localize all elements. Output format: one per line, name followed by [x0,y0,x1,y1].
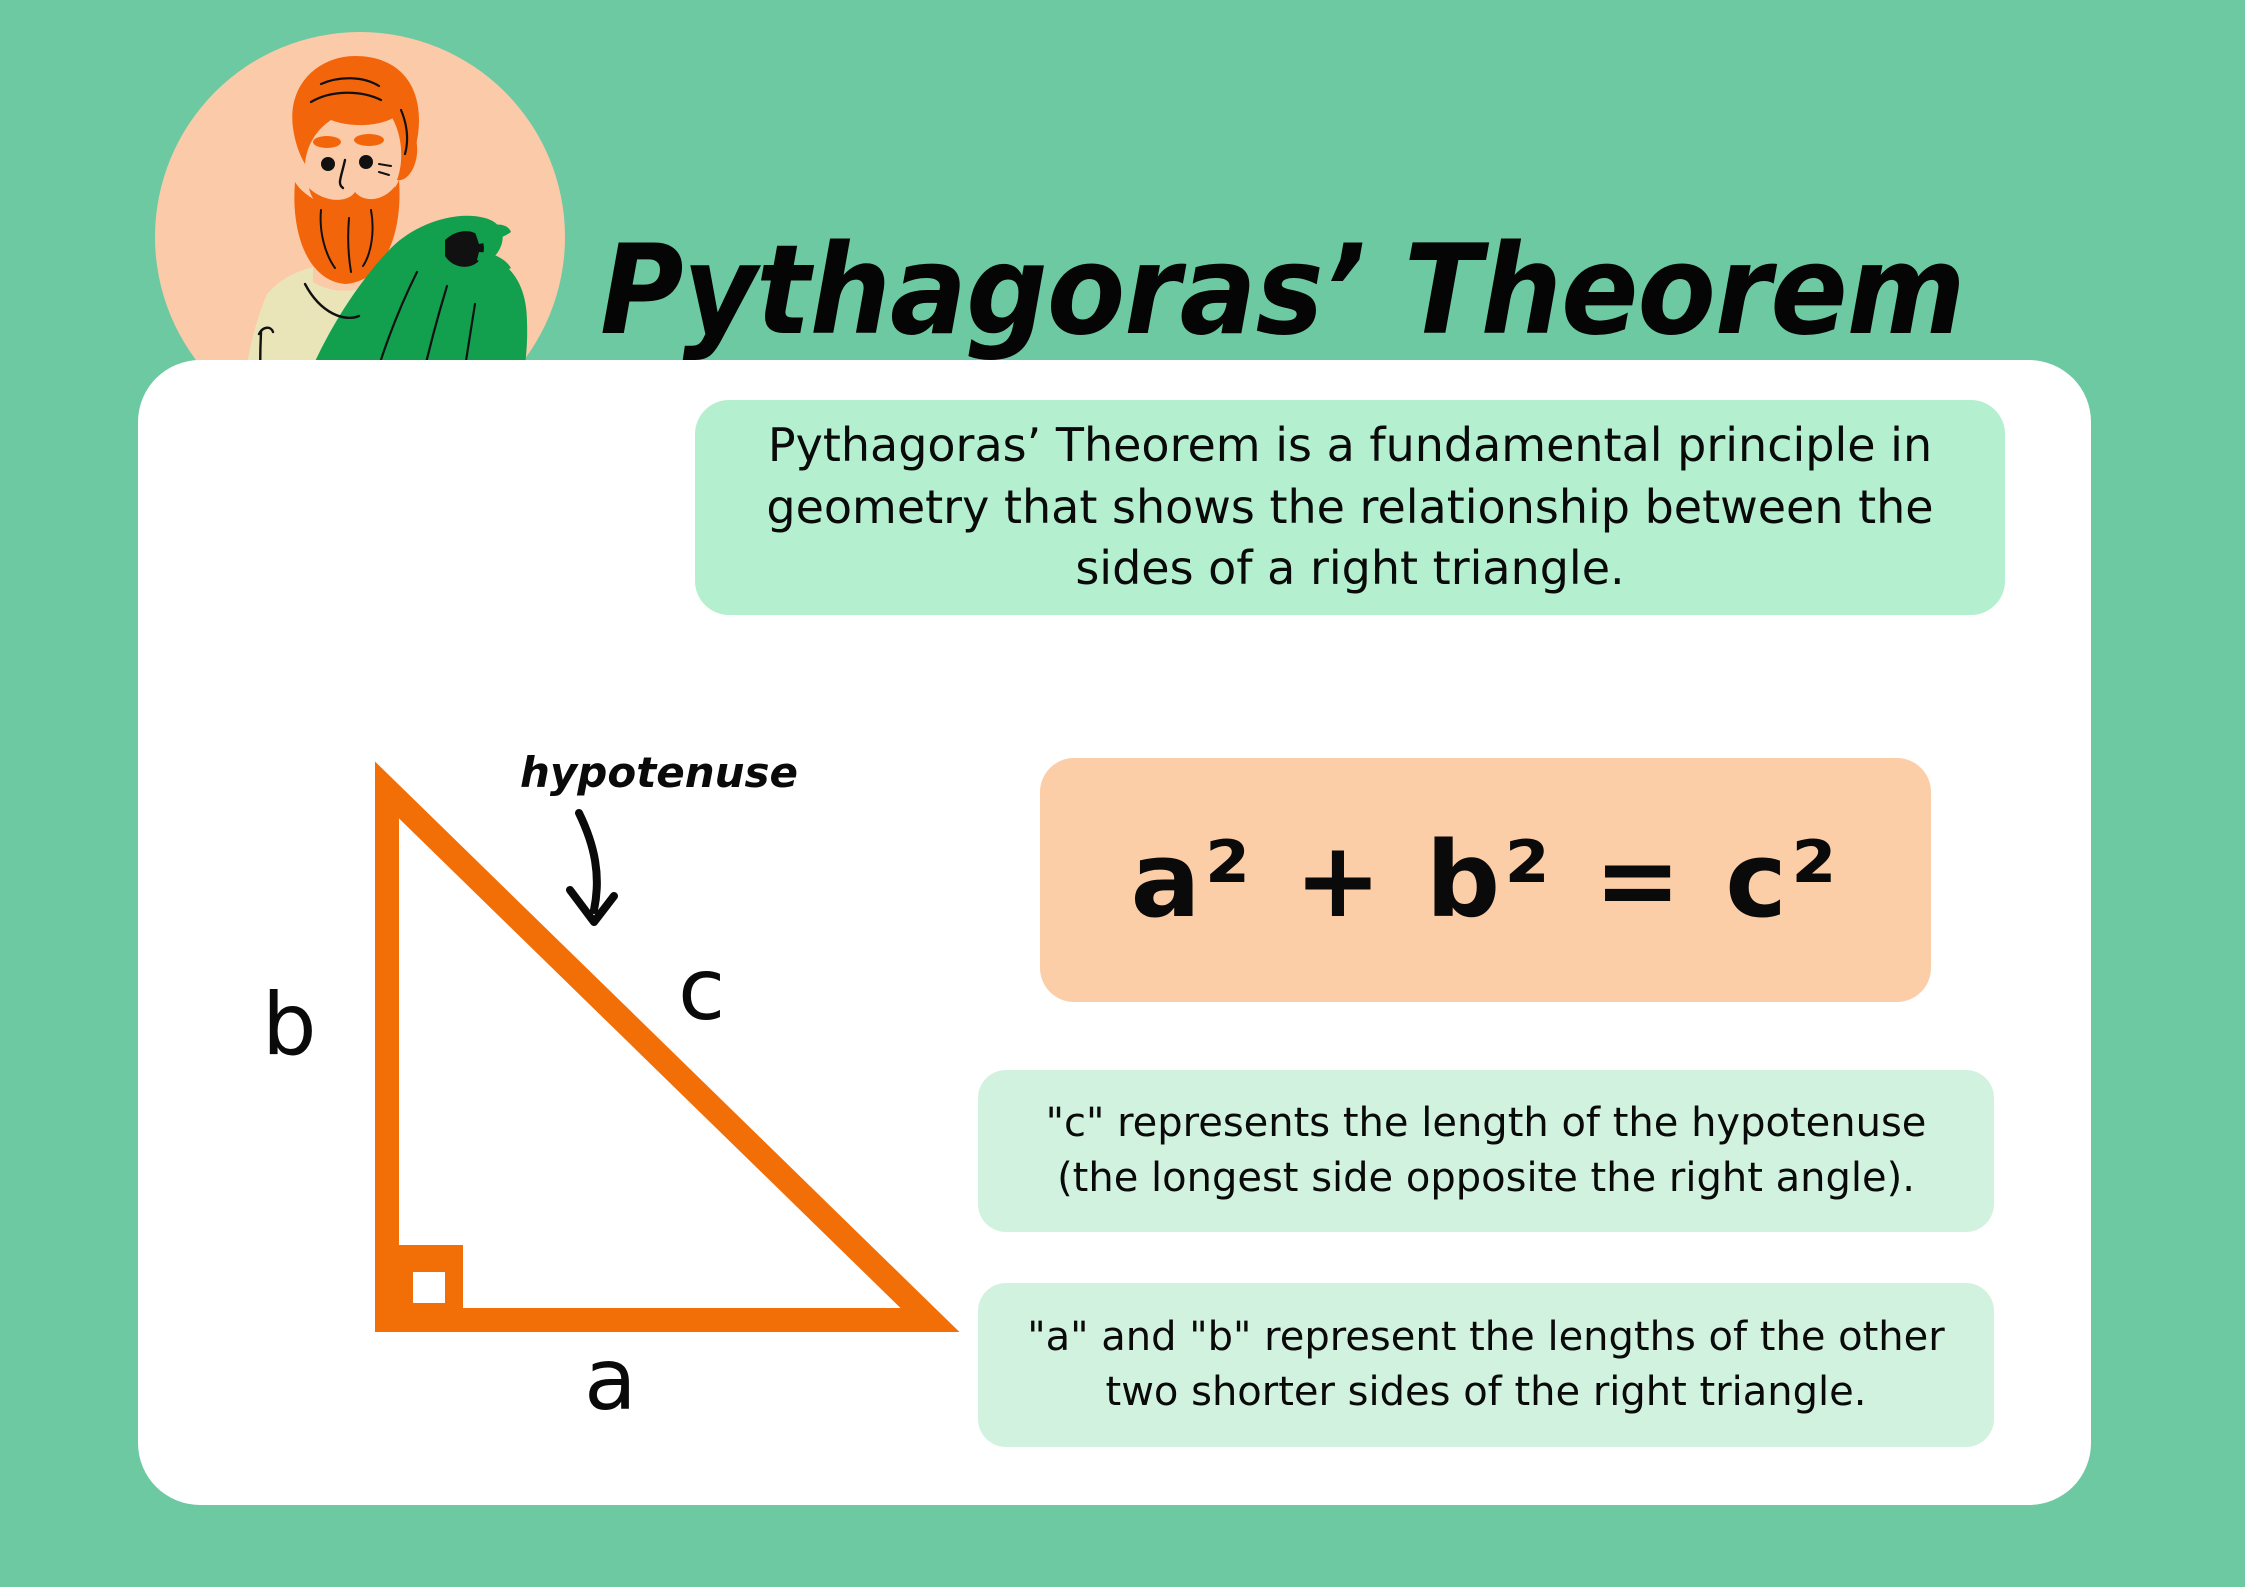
label-side-c: c [678,940,725,1040]
infographic-poster: Pythagoras’ Theorem Pythagoras’ Theorem … [0,0,2245,1587]
note-hypotenuse-box: "c" represents the length of the hypoten… [978,1070,1994,1232]
label-hypotenuse: hypotenuse [520,748,798,797]
triangle-outline [387,790,930,1320]
page-title: Pythagoras’ Theorem [600,201,2035,381]
label-side-b: b [262,975,317,1075]
note-legs-box: "a" and "b" represent the lengths of the… [978,1283,1994,1447]
formula-box: a² + b² = c² [1040,758,1931,1002]
note-legs-text: "a" and "b" represent the lengths of the… [1004,1310,1968,1420]
arrow-shaft [579,813,597,910]
right-angle-inner-square [413,1272,445,1303]
description-box: Pythagoras’ Theorem is a fundamental pri… [695,400,2005,615]
note-hypotenuse-text: "c" represents the length of the hypoten… [1004,1096,1968,1206]
label-side-a: a [584,1330,637,1430]
description-text: Pythagoras’ Theorem is a fundamental pri… [729,415,1971,600]
formula-text: a² + b² = c² [1040,819,1931,941]
